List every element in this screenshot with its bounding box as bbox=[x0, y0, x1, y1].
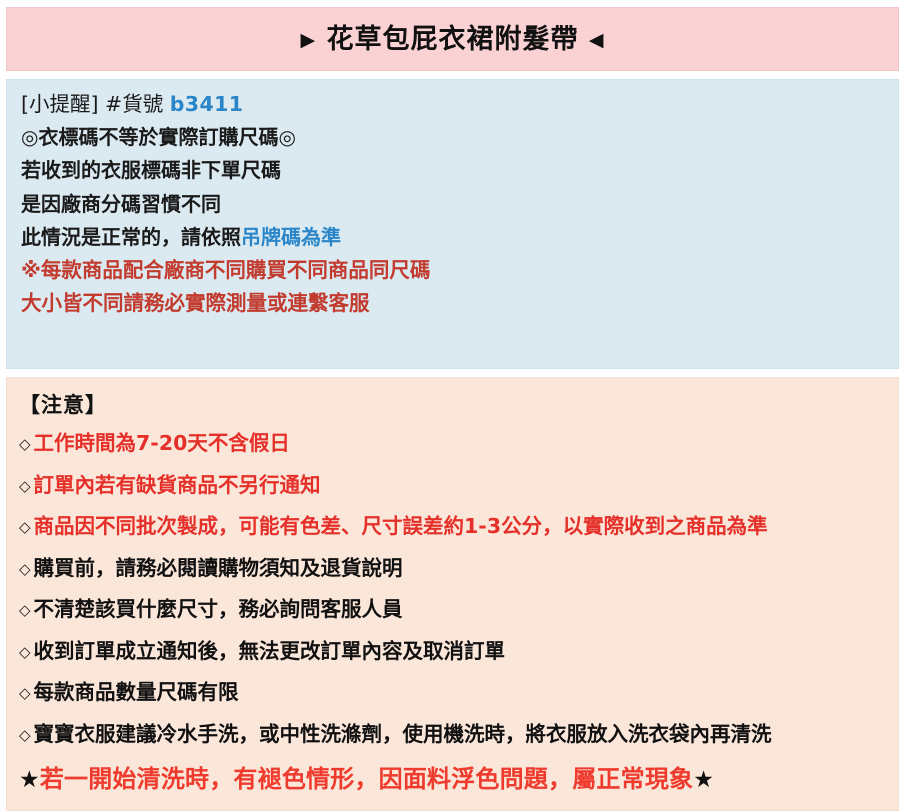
notice-final-warning-text: 若一開始清洗時，有褪色情形，因面料浮色問題，屬正常現象 bbox=[40, 765, 693, 793]
diamond-outline-icon: ◇ bbox=[19, 726, 34, 744]
diamond-outline-icon: ◇ bbox=[19, 601, 34, 619]
star-icon: ★ bbox=[19, 767, 40, 793]
notice-item-text: 訂單內若有缺貨商品不另行通知 bbox=[34, 473, 321, 497]
notice-item-working-days: ◇工作時間為7-20天不含假日 bbox=[19, 423, 898, 465]
product-title-banner: ▶ 花草包屁衣裙附髮帶 ◀ bbox=[6, 7, 899, 71]
size-warning-line-2: 大小皆不同請務必實際測量或連繫客服 bbox=[21, 287, 898, 320]
page-title-text: 花草包屁衣裙附髮帶 bbox=[327, 24, 579, 55]
product-code-value: b3411 bbox=[170, 92, 244, 116]
notice-item-text: 購買前，請務必閱讀購物須知及退貨說明 bbox=[34, 556, 403, 580]
notice-item-batch-variance: ◇商品因不同批次製成，可能有色差、尺寸誤差約1-3公分，以實際收到之商品為準 bbox=[19, 506, 898, 548]
notice-item-text: 每款商品數量尺碼有限 bbox=[34, 680, 239, 704]
notice-final-warning: ★若一開始清洗時，有褪色情形，因面料浮色問題，屬正常現象★ bbox=[19, 755, 898, 802]
size-reminder-panel: [小提醒] #貨號 b3411 ◎衣標碼不等於實際訂購尺碼◎ 若收到的衣服標碼非… bbox=[6, 79, 899, 369]
hangtag-reminder-line: 此情況是正常的，請依照吊牌碼為準 bbox=[21, 221, 898, 254]
diamond-outline-icon: ◇ bbox=[19, 643, 34, 661]
size-warning-line-1: ※每款商品配合廠商不同購買不同商品同尺碼 bbox=[21, 254, 898, 287]
reminder-line-1: ◎衣標碼不等於實際訂購尺碼◎ bbox=[21, 121, 898, 154]
star-icon: ★ bbox=[693, 767, 714, 793]
triangle-left-icon: ◀ bbox=[589, 29, 605, 51]
notice-item-out-of-stock: ◇訂單內若有缺貨商品不另行通知 bbox=[19, 465, 898, 507]
notice-item-text: 收到訂單成立通知後，無法更改訂單內容及取消訂單 bbox=[34, 639, 506, 663]
diamond-outline-icon: ◇ bbox=[19, 477, 34, 495]
triangle-right-icon: ▶ bbox=[300, 29, 316, 51]
product-code-line: [小提醒] #貨號 b3411 bbox=[21, 88, 898, 121]
hangtag-highlight: 吊牌碼為準 bbox=[241, 225, 341, 249]
product-notice-page: ▶ 花草包屁衣裙附髮帶 ◀ [小提醒] #貨號 b3411 ◎衣標碼不等於實際訂… bbox=[0, 0, 905, 806]
reminder-line-2: 若收到的衣服標碼非下單尺碼 bbox=[21, 154, 898, 187]
product-code-label: [小提醒] #貨號 bbox=[21, 92, 163, 116]
notice-item-ask-support: ◇不清楚該買什麼尺寸，務必詢問客服人員 bbox=[19, 589, 898, 631]
notice-item-read-policy: ◇購買前，請務必閱讀購物須知及退貨說明 bbox=[19, 548, 898, 590]
notice-item-text: 工作時間為7-20天不含假日 bbox=[34, 431, 290, 455]
notice-item-text: 寶寶衣服建議冷水手洗，或中性洗滌劑，使用機洗時，將衣服放入洗衣袋內再清洗 bbox=[34, 722, 772, 746]
notice-item-limited-stock: ◇每款商品數量尺碼有限 bbox=[19, 672, 898, 714]
diamond-outline-icon: ◇ bbox=[19, 560, 34, 578]
notice-panel: 【注意】 ◇工作時間為7-20天不含假日 ◇訂單內若有缺貨商品不另行通知 ◇商品… bbox=[6, 377, 899, 811]
page-title: ▶ 花草包屁衣裙附髮帶 ◀ bbox=[300, 26, 604, 53]
reminder-line-3: 是因廠商分碼習慣不同 bbox=[21, 188, 898, 221]
notice-item-no-order-change: ◇收到訂單成立通知後，無法更改訂單內容及取消訂單 bbox=[19, 631, 898, 673]
notice-item-text: 商品因不同批次製成，可能有色差、尺寸誤差約1-3公分，以實際收到之商品為準 bbox=[34, 514, 768, 538]
diamond-outline-icon: ◇ bbox=[19, 518, 34, 536]
notice-item-text: 不清楚該買什麼尺寸，務必詢問客服人員 bbox=[34, 597, 403, 621]
diamond-outline-icon: ◇ bbox=[19, 435, 34, 453]
notice-item-washing-care: ◇寶寶衣服建議冷水手洗，或中性洗滌劑，使用機洗時，將衣服放入洗衣袋內再清洗 bbox=[19, 714, 898, 756]
diamond-outline-icon: ◇ bbox=[19, 684, 34, 702]
notice-heading: 【注意】 bbox=[19, 388, 898, 423]
hangtag-reminder-prefix: 此情況是正常的，請依照 bbox=[21, 225, 241, 249]
